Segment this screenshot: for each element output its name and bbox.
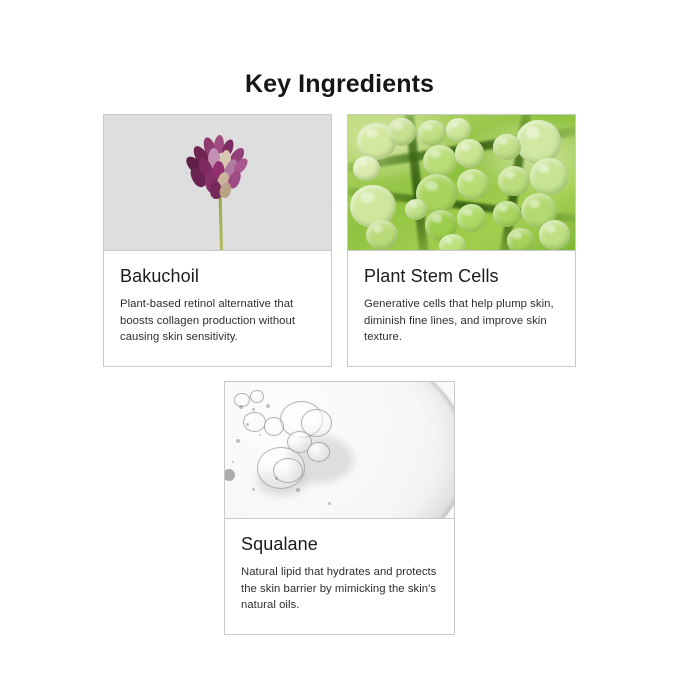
ingredient-description-plant-stem-cells: Generative cells that help plump skin, d… [364,296,559,346]
ingredient-card-plant-stem-cells[interactable]: Plant Stem Cells Generative cells that h… [347,114,576,367]
ingredient-description-squalane: Natural lipid that hydrates and protects… [241,564,438,614]
ingredient-name-squalane: Squalane [241,533,438,555]
ingredient-image-plant-stem-cells [348,115,575,251]
ingredients-page: Key Ingredients [0,0,679,679]
ingredient-card-bakuchoil[interactable]: Bakuchoil Plant-based retinol alternativ… [103,114,332,367]
ingredient-image-squalane [225,382,454,519]
ingredient-image-bakuchoil [104,115,331,251]
flower-head [186,137,250,199]
card-body-plant-stem-cells: Plant Stem Cells Generative cells that h… [348,251,575,346]
ingredient-name-plant-stem-cells: Plant Stem Cells [364,265,559,287]
page-title: Key Ingredients [0,69,679,99]
ingredient-description-bakuchoil: Plant-based retinol alternative that boo… [120,296,315,346]
ingredient-card-squalane[interactable]: Squalane Natural lipid that hydrates and… [224,381,455,635]
card-body-squalane: Squalane Natural lipid that hydrates and… [225,519,454,614]
card-body-bakuchoil: Bakuchoil Plant-based retinol alternativ… [104,251,331,346]
ingredient-name-bakuchoil: Bakuchoil [120,265,315,287]
